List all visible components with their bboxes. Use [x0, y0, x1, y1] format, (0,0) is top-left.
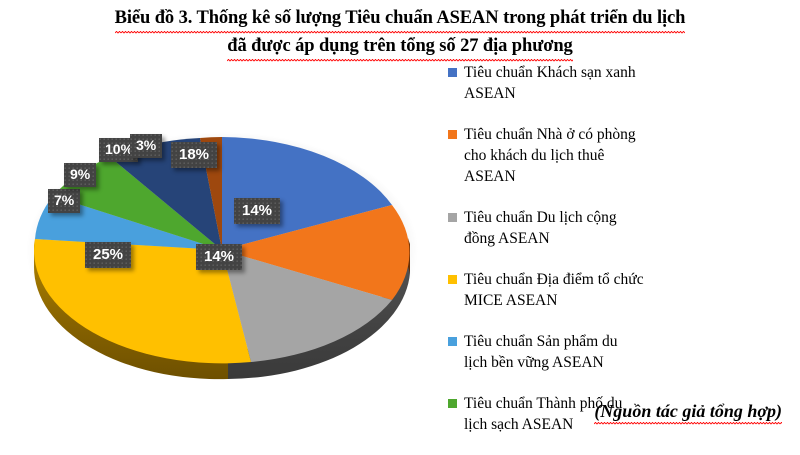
pie-chart-graphic: 18% 14% 14% 25% 7% 9% 10% 3% [6, 62, 446, 382]
legend-swatch-icon [448, 213, 457, 222]
legend-item-mice[interactable]: Tiêu chuẩn Địa điểm tổ chức MICE ASEAN [448, 269, 796, 311]
legend-item-label: Tiêu chuẩn Khách sạn xanh ASEAN [464, 62, 644, 104]
legend-swatch-icon [448, 68, 457, 77]
legend-swatch-icon [448, 275, 457, 284]
data-label-9: 9% [64, 163, 96, 187]
data-label-18: 18% [171, 142, 217, 168]
legend-swatch-icon [448, 130, 457, 139]
pie-svg [6, 62, 446, 382]
data-label-3: 3% [130, 134, 162, 158]
legend-item-homestay[interactable]: Tiêu chuẩn Nhà ở có phòng cho khách du l… [448, 124, 796, 187]
title-line-2: đã được áp dụng trên tổng số 27 địa phươ… [0, 34, 800, 62]
data-label-25: 25% [85, 242, 131, 268]
legend-item-label: Tiêu chuẩn Sản phẩm du lịch bền vững ASE… [464, 331, 644, 373]
source-note: (Nguồn tác giả tổng hợp) [594, 401, 782, 425]
legend-item-sustainable[interactable]: Tiêu chuẩn Sản phẩm du lịch bền vững ASE… [448, 331, 796, 373]
page-title: Biểu đồ 3. Thống kê số lượng Tiêu chuẩn … [0, 6, 800, 62]
legend-item-label: Tiêu chuẩn Du lịch cộng đồng ASEAN [464, 207, 644, 249]
data-label-14-gray: 14% [196, 244, 242, 270]
legend-item-label: Tiêu chuẩn Nhà ở có phòng cho khách du l… [464, 124, 644, 187]
pie-chart: 18% 14% 14% 25% 7% 9% 10% 3% [6, 62, 446, 382]
data-label-14-orange: 14% [234, 198, 280, 224]
legend-item-hotel-green[interactable]: Tiêu chuẩn Khách sạn xanh ASEAN [448, 62, 796, 104]
legend-item-community[interactable]: Tiêu chuẩn Du lịch cộng đồng ASEAN [448, 207, 796, 249]
legend-swatch-icon [448, 399, 457, 408]
legend: Tiêu chuẩn Khách sạn xanh ASEAN Tiêu chu… [448, 62, 796, 455]
data-label-7: 7% [48, 189, 80, 213]
title-line-1: Biểu đồ 3. Thống kê số lượng Tiêu chuẩn … [0, 6, 800, 34]
legend-item-label: Tiêu chuẩn Địa điểm tổ chức MICE ASEAN [464, 269, 644, 311]
legend-swatch-icon [448, 337, 457, 346]
